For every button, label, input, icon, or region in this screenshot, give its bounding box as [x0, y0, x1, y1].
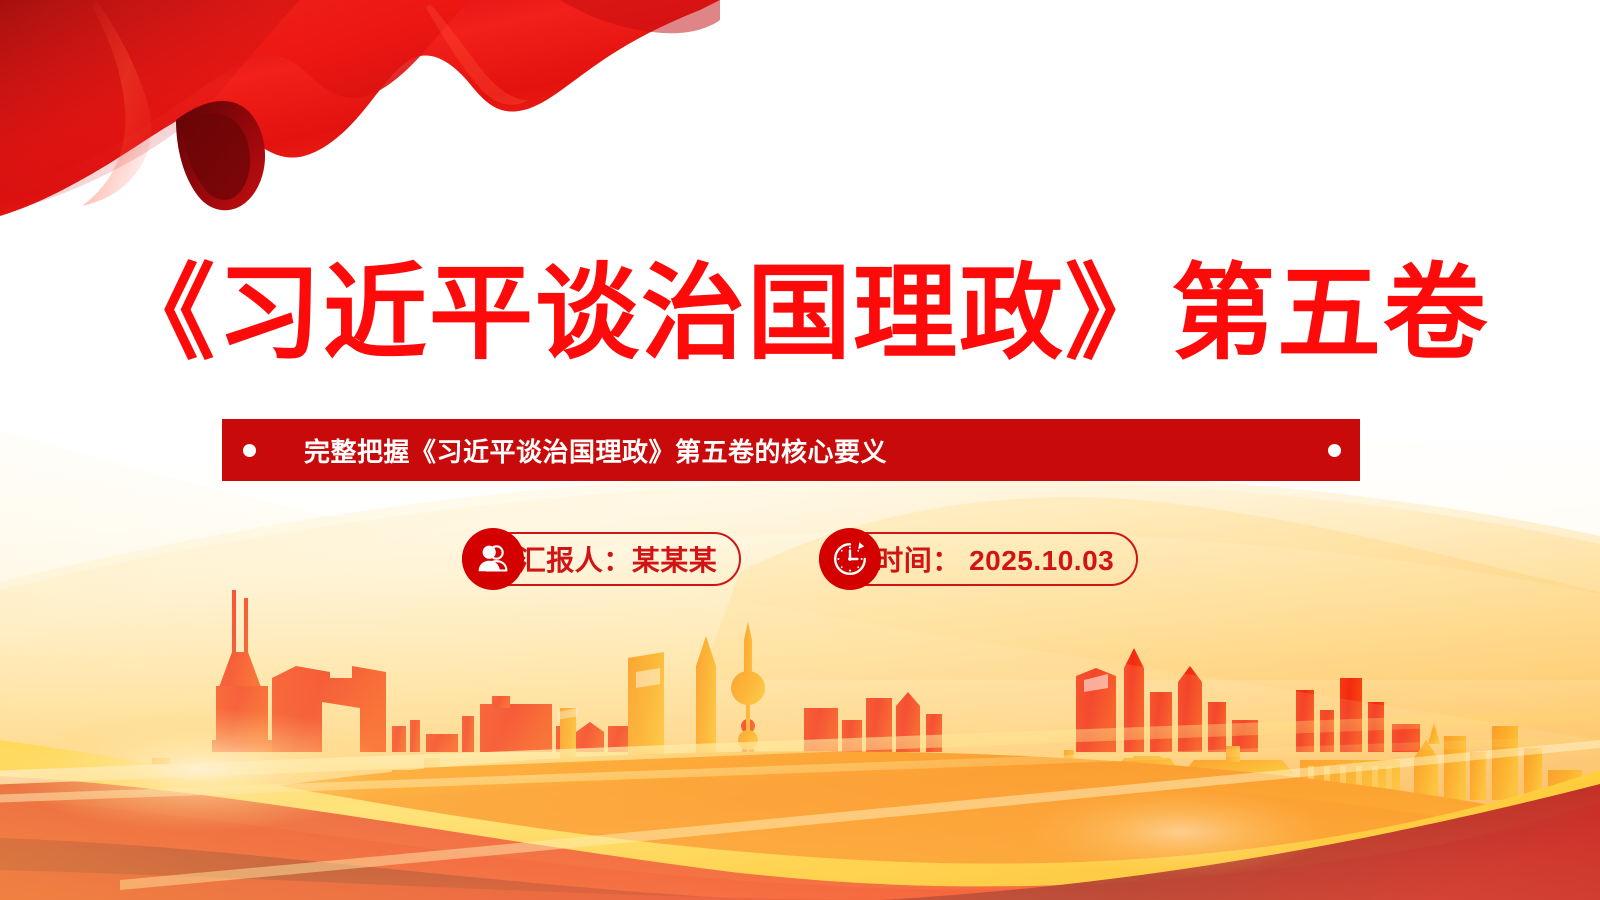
bullet-dot-right-icon	[1328, 444, 1341, 457]
slide-canvas: 《习近平谈治国理政》第五卷 完整把握《习近平谈治国理政》第五卷的核心要义 汇报人…	[0, 0, 1600, 900]
presenter-badge: 汇报人：某某某	[462, 528, 742, 590]
date-badge: 时间： 2025.10.03	[819, 528, 1138, 590]
user-icon	[462, 528, 524, 590]
date-label: 时间： 2025.10.03	[875, 539, 1114, 579]
presenter-label: 汇报人：某某某	[518, 539, 718, 579]
slide-content: 《习近平谈治国理政》第五卷 完整把握《习近平谈治国理政》第五卷的核心要义 汇报人…	[0, 0, 1600, 900]
subtitle-text: 完整把握《习近平谈治国理政》第五卷的核心要义	[304, 432, 1328, 469]
bullet-dot-left-icon	[243, 444, 256, 457]
clock-icon	[819, 528, 881, 590]
subtitle-banner: 完整把握《习近平谈治国理政》第五卷的核心要义	[222, 419, 1360, 481]
page-title: 《习近平谈治国理政》第五卷	[0, 252, 1600, 377]
meta-row: 汇报人：某某某	[0, 528, 1600, 590]
